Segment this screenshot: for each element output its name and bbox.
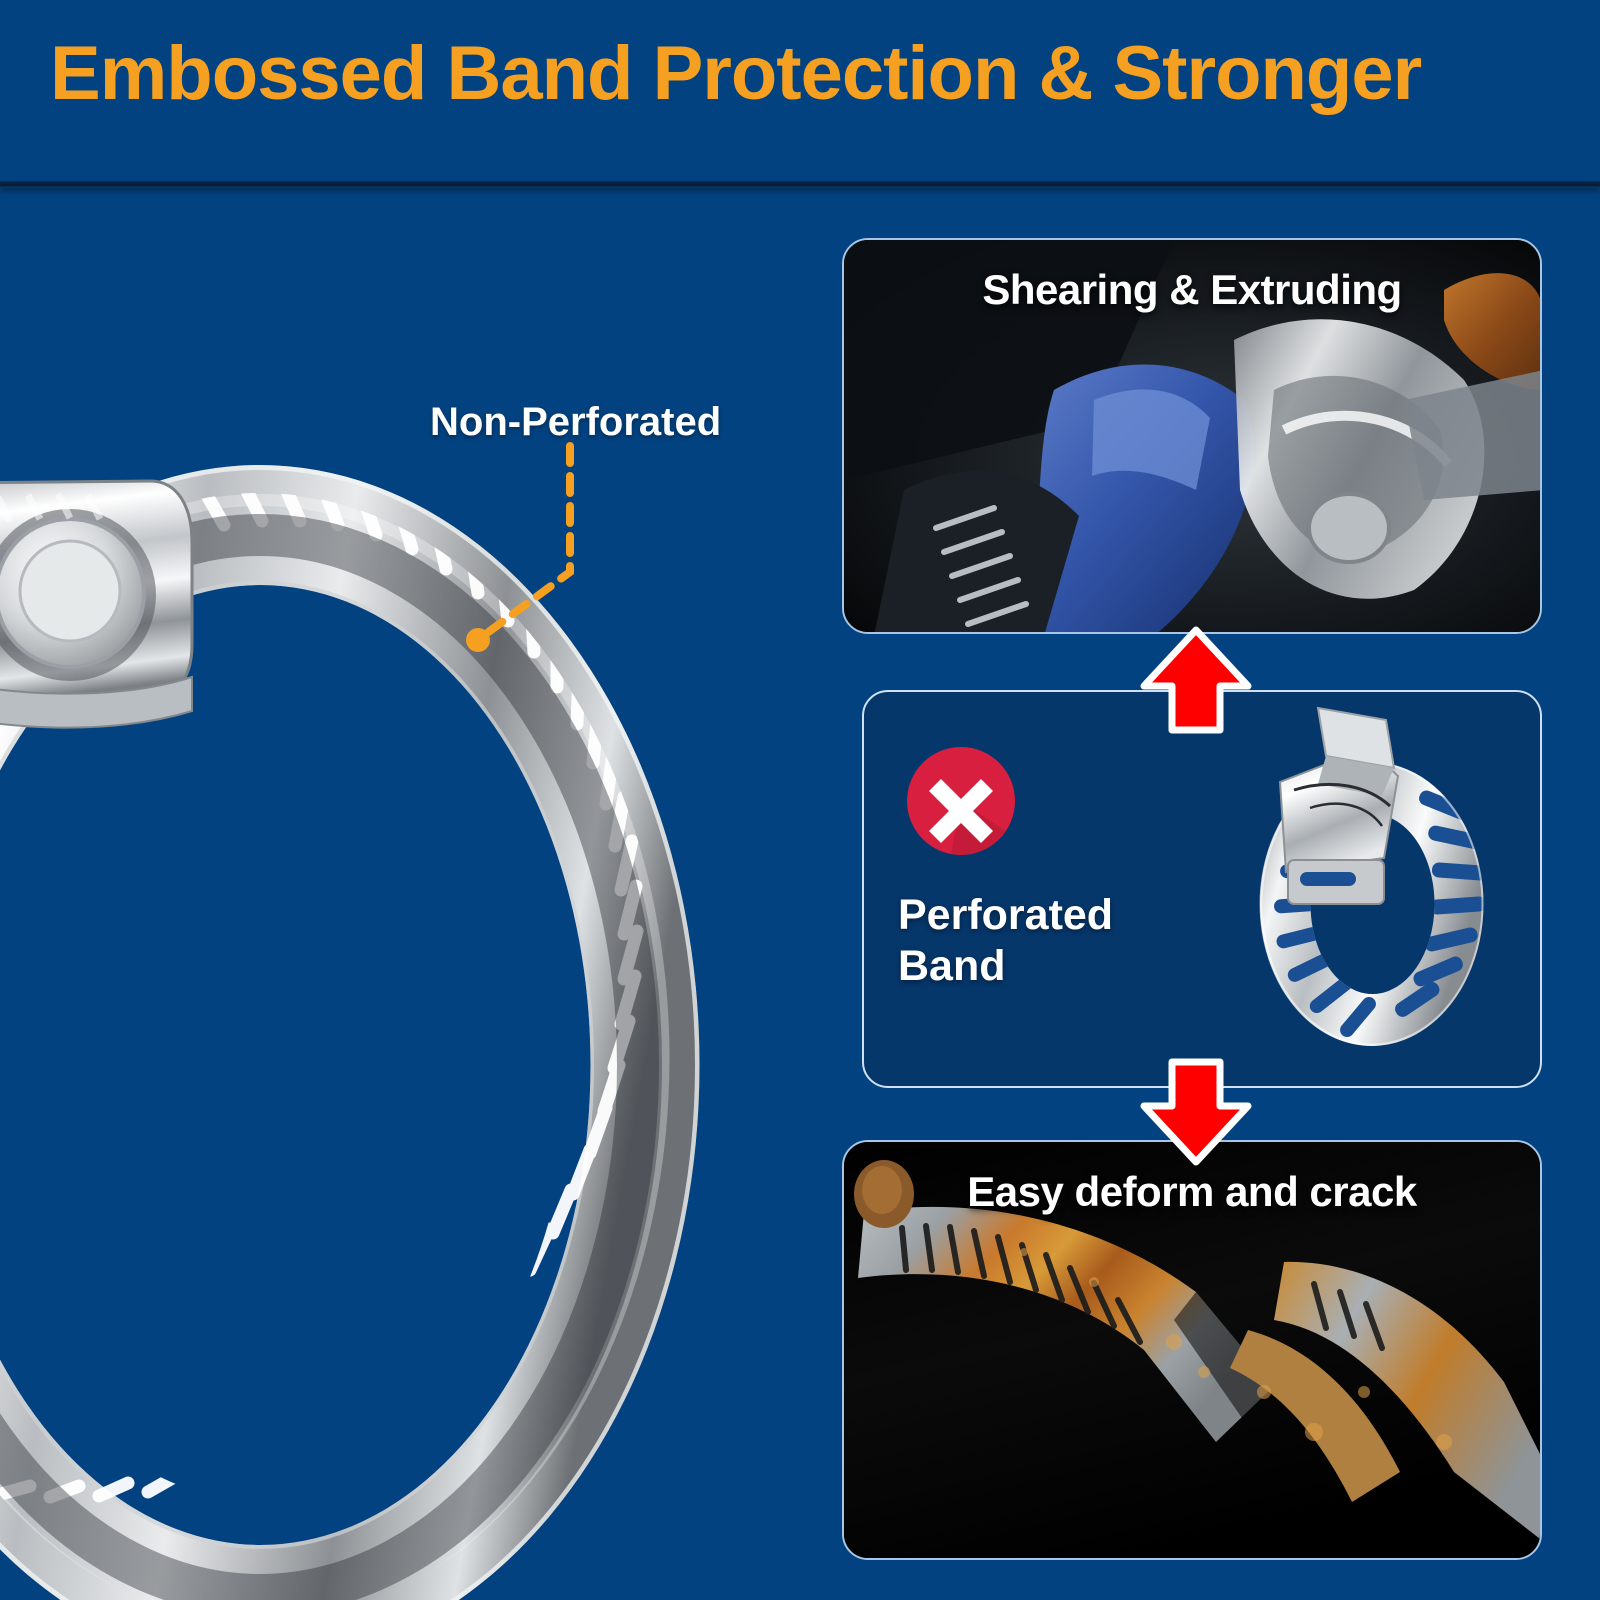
perforated-band-label-line1: Perforated — [898, 890, 1113, 941]
perforated-band-label: Perforated Band — [898, 890, 1113, 991]
panel-caption-deform-crack: Easy deform and crack — [844, 1168, 1540, 1216]
callout-label-non-perforated: Non-Perforated — [430, 400, 721, 445]
red-x-circle-icon — [905, 745, 1017, 857]
page-title: Embossed Band Protection & Stronger — [50, 34, 1570, 114]
header-bar: Embossed Band Protection & Stronger — [0, 0, 1600, 183]
panel-caption-shearing: Shearing & Extruding — [844, 266, 1540, 314]
infographic-canvas: Embossed Band Protection & Stronger — [0, 0, 1600, 1600]
header-divider — [0, 181, 1600, 188]
arrow-down-icon — [1136, 1056, 1256, 1168]
perforated-band-label-line2: Band — [898, 941, 1113, 992]
callout-leader-line — [420, 440, 640, 670]
arrow-up-icon — [1136, 624, 1256, 736]
perforated-clamp-image — [1222, 690, 1512, 1060]
panel-easy-deform-crack: Easy deform and crack — [842, 1140, 1542, 1560]
panel-shearing-extruding: Shearing & Extruding — [842, 238, 1542, 634]
